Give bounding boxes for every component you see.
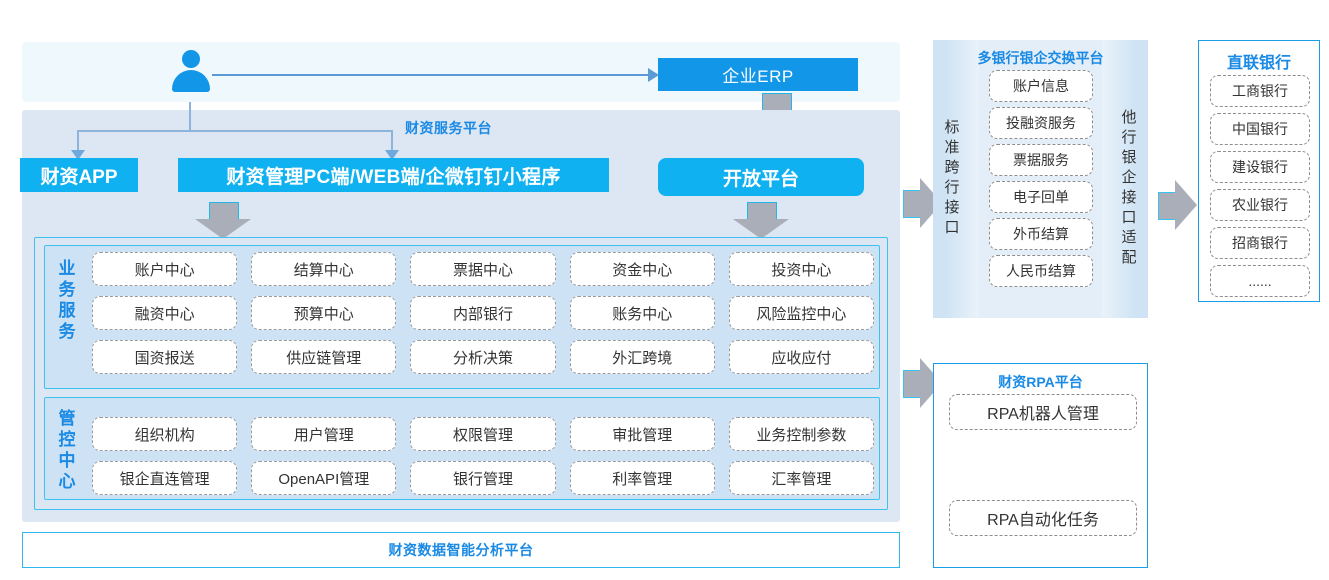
list-item[interactable]: 审批管理 [570,417,715,451]
list-item[interactable]: ...... [1210,265,1310,297]
list-item[interactable]: 利率管理 [570,461,715,495]
list-item[interactable]: 内部银行 [410,296,555,330]
control-center-label: 管控中心 [52,408,82,492]
list-item[interactable]: 工商银行 [1210,75,1310,107]
list-item[interactable]: 外汇跨境 [570,340,715,374]
service-platform-title: 财资服务平台 [405,118,492,138]
list-item[interactable]: 投融资服务 [989,107,1093,139]
arrow-down-open-to-services-icon [733,202,789,240]
arrow-right-to-direct-bank-icon [1158,180,1198,230]
arrow-down-pc-to-services-icon [195,202,251,240]
list-item[interactable]: 招商银行 [1210,227,1310,259]
standard-cross-bank-interface-label: 标准跨行接口 [941,118,963,238]
pc-web-button[interactable]: 财资管理PC端/WEB端/企微钉钉小程序 [178,158,609,192]
list-item[interactable]: 风险监控中心 [729,296,874,330]
user-icon [170,48,210,96]
list-item[interactable]: 结算中心 [251,252,396,286]
direct-bank-title: 直联银行 [1199,49,1319,73]
list-item[interactable]: 分析决策 [410,340,555,374]
table-row: 融资中心 预算中心 内部银行 账务中心 风险监控中心 [92,296,874,330]
table-row: 账户中心 结算中心 票据中心 资金中心 投资中心 [92,252,874,286]
business-services-label: 业务服务 [52,258,82,342]
table-row: 国资报送 供应链管理 分析决策 外汇跨境 应收应付 [92,340,874,374]
rpa-automation-task-item[interactable]: RPA自动化任务 [949,500,1137,536]
list-item[interactable]: 供应链管理 [251,340,396,374]
data-analysis-platform-bar: 财资数据智能分析平台 [22,532,900,568]
app-button[interactable]: 财资APP [20,158,138,192]
list-item[interactable]: 银行管理 [410,461,555,495]
list-item[interactable]: 资金中心 [570,252,715,286]
list-item[interactable]: 投资中心 [729,252,874,286]
list-item[interactable]: 账务中心 [570,296,715,330]
list-item[interactable]: 人民币结算 [989,255,1093,287]
connector-branch-left [77,130,79,152]
table-row: 银企直连管理 OpenAPI管理 银行管理 利率管理 汇率管理 [92,461,874,495]
rpa-title: 财资RPA平台 [934,372,1147,392]
connector-branch-right [391,130,393,152]
bank-exchange-service-list: 账户信息 投融资服务 票据服务 电子回单 外币结算 人民币结算 [989,70,1093,287]
list-item[interactable]: 外币结算 [989,218,1093,250]
business-services-grid: 账户中心 结算中心 票据中心 资金中心 投资中心 融资中心 预算中心 内部银行 … [92,252,874,374]
table-row: 组织机构 用户管理 权限管理 审批管理 业务控制参数 [92,417,874,451]
list-item[interactable]: 账户信息 [989,70,1093,102]
list-item[interactable]: OpenAPI管理 [251,461,396,495]
user-head-shape [182,50,200,68]
control-center-grid: 组织机构 用户管理 权限管理 审批管理 业务控制参数 银企直连管理 OpenAP… [92,417,874,495]
list-item[interactable]: 融资中心 [92,296,237,330]
list-item[interactable]: 组织机构 [92,417,237,451]
list-item[interactable]: 建设银行 [1210,151,1310,183]
user-body-shape [172,70,210,92]
direct-bank-list: 工商银行 中国银行 建设银行 农业银行 招商银行 ...... [1210,75,1310,297]
open-platform-button[interactable]: 开放平台 [658,158,864,196]
other-bank-interface-adapt-label: 他行银企接口适配 [1118,108,1140,268]
list-item[interactable]: 国资报送 [92,340,237,374]
enterprise-erp-box[interactable]: 企业ERP [658,58,858,91]
list-item[interactable]: 中国银行 [1210,113,1310,145]
connector-horizontal-branch [77,130,393,132]
list-item[interactable]: 票据服务 [989,144,1093,176]
list-item[interactable]: 预算中心 [251,296,396,330]
list-item[interactable]: 用户管理 [251,417,396,451]
list-item[interactable]: 权限管理 [410,417,555,451]
bank-exchange-title: 多银行银企交换平台 [933,48,1148,68]
list-item[interactable]: 票据中心 [410,252,555,286]
list-item[interactable]: 农业银行 [1210,189,1310,221]
list-item[interactable]: 应收应付 [729,340,874,374]
connector-user-to-erp [212,74,654,76]
rpa-robot-management-item[interactable]: RPA机器人管理 [949,394,1137,430]
rpa-panel: 财资RPA平台 RPA机器人管理 RPA自动化任务 [933,363,1148,568]
list-item[interactable]: 账户中心 [92,252,237,286]
connector-user-down [189,102,191,130]
list-item[interactable]: 电子回单 [989,181,1093,213]
list-item[interactable]: 银企直连管理 [92,461,237,495]
list-item[interactable]: 业务控制参数 [729,417,874,451]
list-item[interactable]: 汇率管理 [729,461,874,495]
bank-exchange-panel: 多银行银企交换平台 标准跨行接口 他行银企接口适配 账户信息 投融资服务 票据服… [933,40,1148,318]
direct-bank-panel: 直联银行 工商银行 中国银行 建设银行 农业银行 招商银行 ...... [1198,40,1320,302]
